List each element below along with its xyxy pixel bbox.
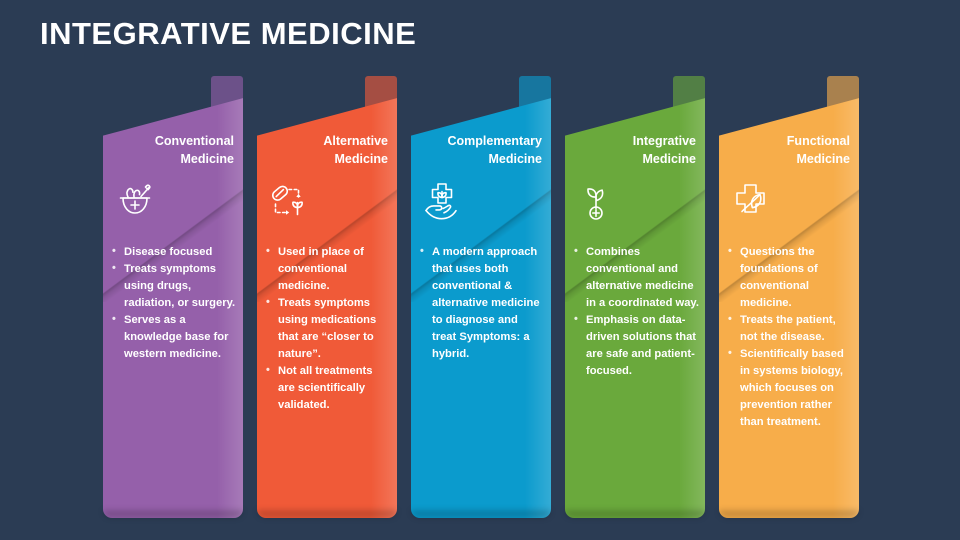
list-item: A modern approach that uses both convent… [418,244,545,363]
card-title: Integrative Medicine [573,132,696,168]
card-title: Alternative Medicine [265,132,388,168]
list-item: Combines conventional and alternative me… [572,244,699,312]
cards-container: Conventional Medicine Disease focused Tr… [103,76,873,518]
card-title: Conventional Medicine [111,132,234,168]
card-bullet-list: Used in place of conventional medicine. … [264,244,391,414]
mortar-pestle-cross-icon [113,180,157,224]
list-item: Questions the foundations of conventiona… [726,244,853,312]
list-item: Serves as a knowledge base for western m… [110,312,237,363]
list-item: Not all treatments are scientifically va… [264,363,391,414]
card-title: Functional Medicine [727,132,850,168]
card-title-line1: Conventional [111,132,234,150]
card-title-line2: Medicine [111,150,234,168]
card-title: Complementary Medicine [419,132,542,168]
sprout-plus-icon [575,180,619,224]
card-title-line1: Alternative [265,132,388,150]
card-integrative-medicine[interactable]: Integrative Medicine Combines convention… [565,76,705,518]
card-shadow [411,510,551,518]
card-bullet-list: Questions the foundations of conventiona… [726,244,853,431]
card-title-line1: Integrative [573,132,696,150]
card-functional-medicine[interactable]: Functional Medicine Questions the founda… [719,76,859,518]
card-title-line2: Medicine [727,150,850,168]
card-bullet-list: A modern approach that uses both convent… [418,244,545,363]
list-item: Treats symptoms using drugs, radiation, … [110,261,237,312]
card-shadow [719,510,859,518]
cross-leaf-icon [729,180,773,224]
card-title-line1: Functional [727,132,850,150]
list-item: Used in place of conventional medicine. [264,244,391,295]
hand-holding-cross-leaf-icon [421,180,465,224]
card-alternative-medicine[interactable]: Alternative Medicine Used in place of c [257,76,397,518]
list-item: Treats symptoms using medications that a… [264,295,391,363]
page-title: INTEGRATIVE MEDICINE [40,16,416,52]
card-title-line2: Medicine [573,150,696,168]
list-item: Disease focused [110,244,237,261]
card-title-line2: Medicine [419,150,542,168]
card-title-line1: Complementary [419,132,542,150]
pill-leaf-exchange-icon [267,180,311,224]
list-item: Emphasis on data-driven solutions that a… [572,312,699,380]
card-bullet-list: Combines conventional and alternative me… [572,244,699,380]
slide-root: INTEGRATIVE MEDICINE Conventional Medici… [0,0,960,540]
card-shadow [257,510,397,518]
list-item: Treats the patient, not the disease. [726,312,853,346]
card-bullet-list: Disease focused Treats symptoms using dr… [110,244,237,363]
card-shadow [565,510,705,518]
card-shadow [103,510,243,518]
list-item: Scientifically based in systems biology,… [726,346,853,431]
card-title-line2: Medicine [265,150,388,168]
card-complementary-medicine[interactable]: Complementary Medicine A modern approach… [411,76,551,518]
card-conventional-medicine[interactable]: Conventional Medicine Disease focused Tr… [103,76,243,518]
